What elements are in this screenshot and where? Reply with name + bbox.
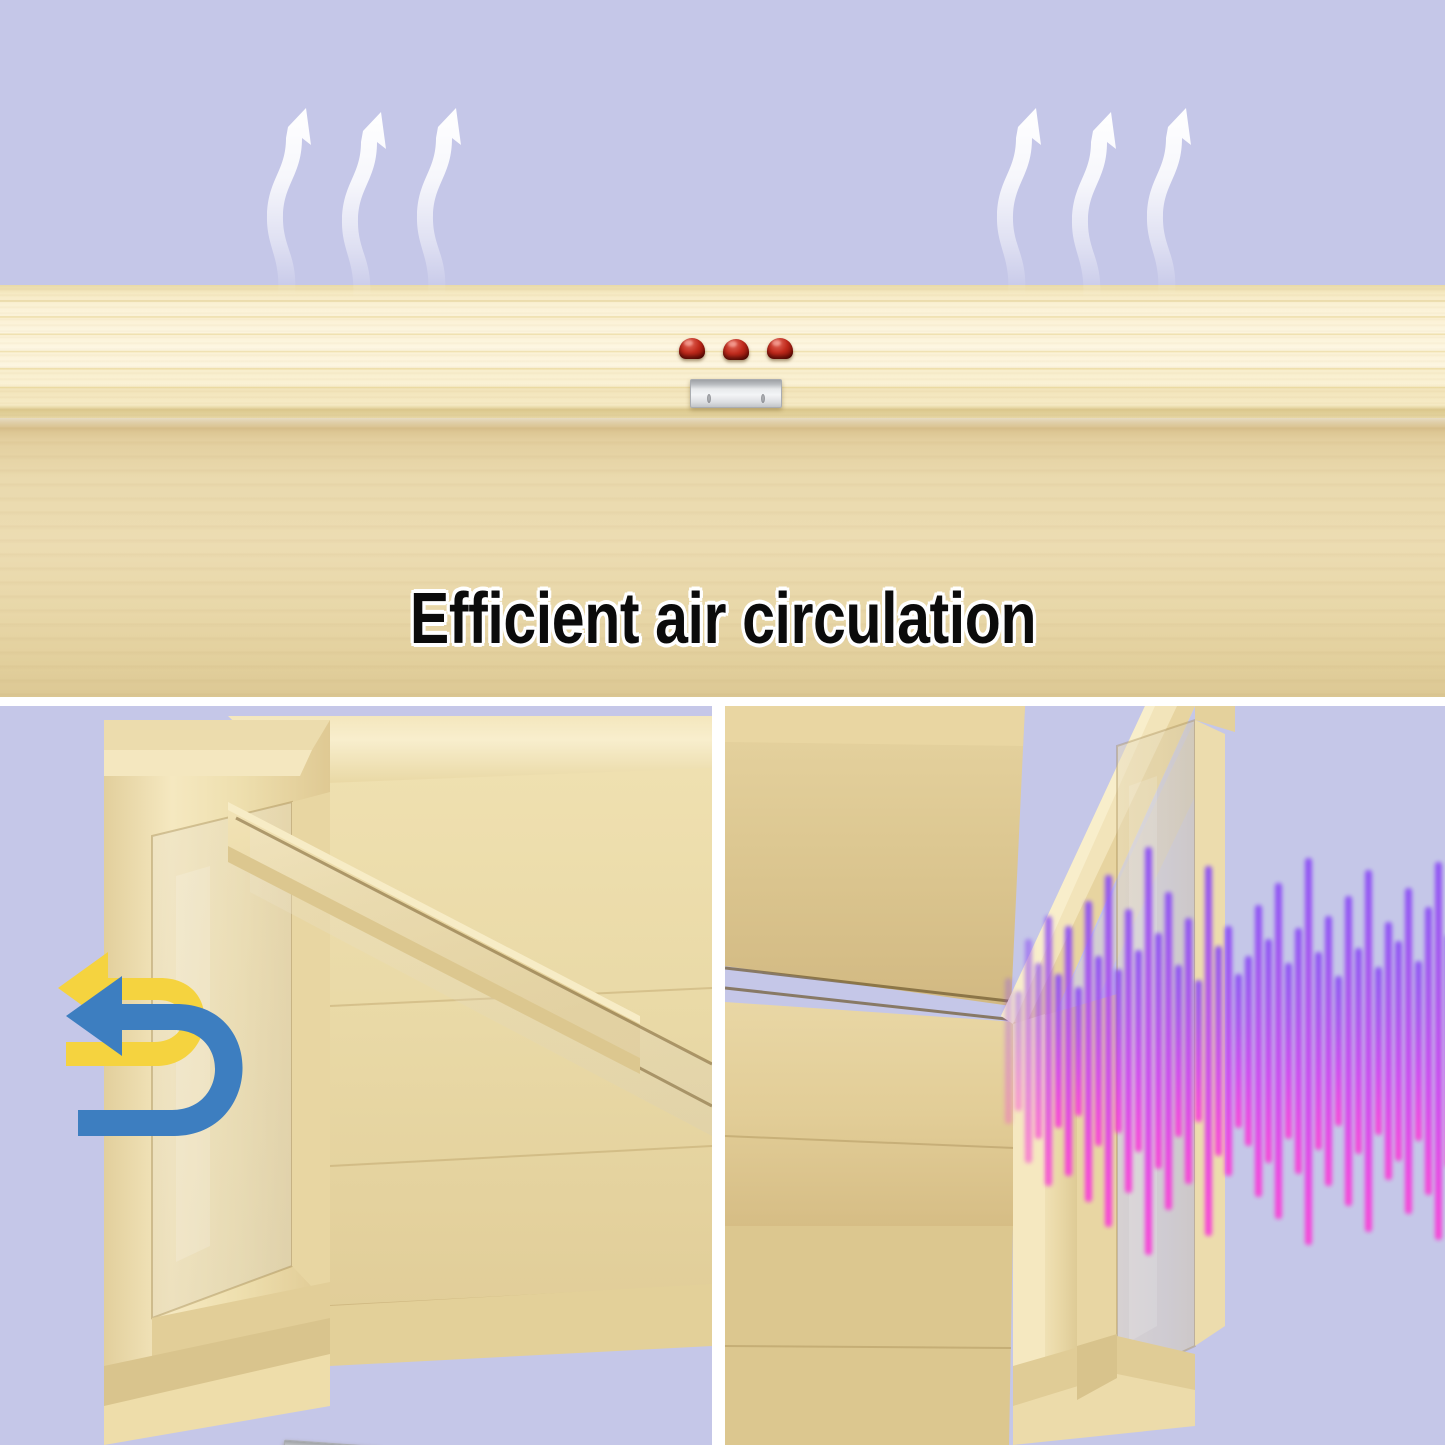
- metal-bracket-icon: [690, 379, 782, 408]
- panel-exceptional-heat-retention: Exceptional heat retention: [0, 706, 712, 1445]
- sound-wave-bar: [1195, 980, 1202, 1122]
- led-indicator-icon: [723, 339, 749, 360]
- sound-wave-bar: [1285, 963, 1292, 1139]
- sound-wave-bar: [1045, 916, 1052, 1187]
- led-indicator-icon: [767, 338, 793, 359]
- sound-wave-bar: [1095, 956, 1102, 1145]
- sound-wave-bar: [1335, 976, 1342, 1127]
- sound-wave-bar: [1025, 939, 1032, 1163]
- sound-wave-bar: [1155, 933, 1162, 1170]
- sound-wave-bar: [1345, 896, 1352, 1206]
- sound-wave-bar: [1085, 901, 1092, 1202]
- sound-wave-bar: [1315, 952, 1322, 1150]
- sound-wave-bar: [1225, 926, 1232, 1175]
- up-wavy-arrow-icon: [997, 108, 1041, 295]
- up-wavy-arrow-icon: [267, 108, 311, 295]
- sound-wave-bar: [1405, 888, 1412, 1215]
- sound-wave-bar: [1135, 950, 1142, 1152]
- sound-wave-bar: [1255, 905, 1262, 1197]
- sound-wave-bar: [1295, 928, 1302, 1173]
- led-indicator-icon: [679, 338, 705, 359]
- sound-wave-bar: [1325, 916, 1332, 1187]
- up-wavy-arrow-icon: [417, 108, 461, 295]
- sound-wave-bar: [1415, 961, 1422, 1142]
- sound-wave-bar: [1105, 875, 1112, 1228]
- up-wavy-arrow-icon: [1147, 108, 1191, 295]
- sound-wave-bar: [1145, 847, 1152, 1256]
- sound-wave-bar: [1435, 862, 1442, 1240]
- sound-wave-bar: [1165, 892, 1172, 1210]
- sound-wave-bar: [1035, 963, 1042, 1139]
- sound-wave-bar: [1265, 939, 1272, 1163]
- up-wavy-arrow-icon: [342, 112, 386, 299]
- sound-wave-bar: [1075, 987, 1082, 1116]
- panel-excellent-acoustic-insulation: Excellent acoustic insulation: [725, 706, 1445, 1445]
- sound-wave-bar: [1005, 978, 1012, 1124]
- sound-wave-bar: [1185, 918, 1192, 1185]
- sound-wave-bar: [1065, 926, 1072, 1175]
- sound-wave-bar: [1235, 974, 1242, 1129]
- sound-wave-bar: [1015, 991, 1022, 1111]
- sound-wave-bar: [1365, 870, 1372, 1231]
- airflow-arrow-group-right: [980, 105, 1230, 315]
- sound-wave-bar: [1375, 967, 1382, 1135]
- sound-wave-bar: [1205, 866, 1212, 1236]
- panel-efficient-air-circulation: Efficient air circulation: [0, 0, 1445, 697]
- infographic-root: Efficient air circulation: [0, 0, 1445, 1445]
- caption-efficient-air-circulation: Efficient air circulation: [409, 578, 1035, 660]
- up-wavy-arrow-icon: [1072, 112, 1116, 299]
- sound-wave-bar: [1055, 974, 1062, 1129]
- heat-circulation-arrow-group: [48, 904, 298, 1164]
- sound-wave-bar: [1215, 946, 1222, 1157]
- sound-wave-bar: [1175, 965, 1182, 1137]
- sound-wave-bar: [1385, 922, 1392, 1180]
- sound-wave-bar: [1395, 941, 1402, 1160]
- sound-wave-bar: [1305, 858, 1312, 1245]
- sound-wave-bar: [1245, 956, 1252, 1145]
- sound-wave-bar: [1115, 969, 1122, 1132]
- sound-wave-bar: [1125, 909, 1132, 1193]
- wood-front-highlight: [0, 418, 1445, 428]
- sound-wave-bar: [1425, 907, 1432, 1195]
- sound-wave-icon: [1005, 836, 1445, 1266]
- sound-wave-bar: [1355, 948, 1362, 1154]
- airflow-arrow-group-left: [250, 105, 500, 315]
- sound-wave-bar: [1275, 883, 1282, 1218]
